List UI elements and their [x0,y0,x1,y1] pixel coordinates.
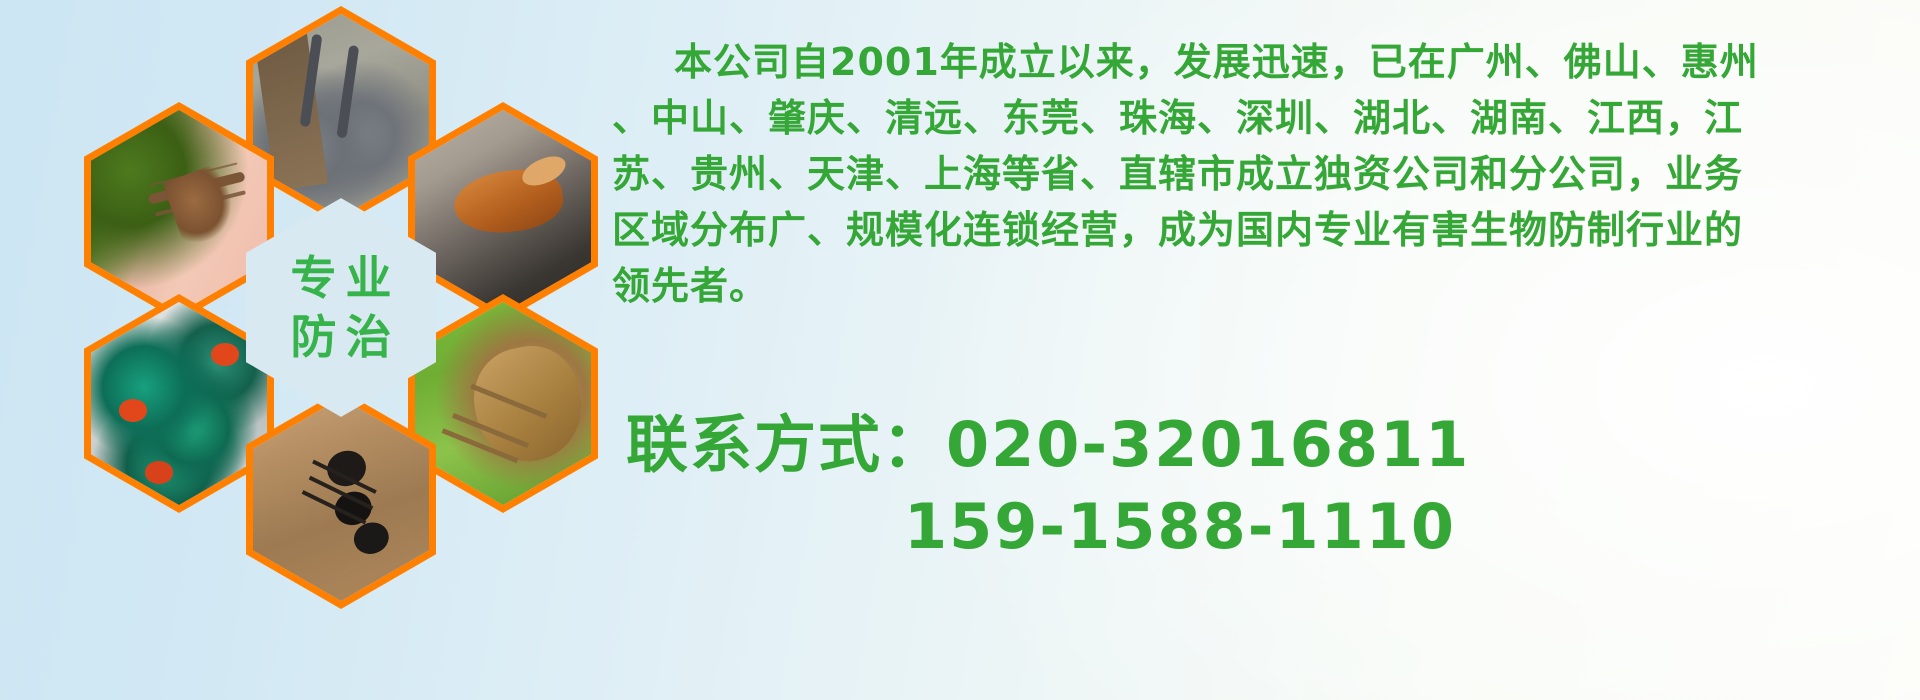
slogan-line-2: 防治 [282,310,401,364]
hex-cell-cockroach-photo [408,102,598,321]
hex-cell-stinkbug-photo [408,294,598,513]
hex-cell-slogan: 专业 防治 [246,198,436,417]
hex-inner [91,110,267,313]
hex-cell-mosquito-photo [84,102,274,321]
hex-inner [415,110,591,313]
description-line-5: 领先者。 [612,258,1908,314]
contact-block: 联系方式：020-32016811 159-1588-1110 [626,404,1920,568]
description-line-1: 本公司自2001年成立以来，发展迅速，已在广州、佛山、惠州 [612,34,1908,90]
contact-label: 联系方式： [626,408,946,481]
flies-photo [91,302,267,505]
stinkbug-photo [415,302,591,505]
cockroach-photo [415,110,591,313]
hex-cell-rats-photo [246,6,436,225]
contact-mobile-row: 159-1588-1110 [626,486,1920,568]
rats-photo [253,14,429,217]
hex-inner [415,302,591,505]
contact-phone-landline[interactable]: 020-32016811 [946,408,1470,481]
description-line-3: 苏、贵州、天津、上海等省、直辖市成立独资公司和分公司，业务 [612,146,1908,202]
hex-cell-ant-photo [246,390,436,609]
hex-inner [253,398,429,601]
ant-photo [253,398,429,601]
description-line-2: 、中山、肇庆、清远、东莞、珠海、深圳、湖北、湖南、江西，江 [612,90,1908,146]
mosquito-photo [91,110,267,313]
hexagon-photo-collage: 专业 防治 [78,6,578,566]
hex-cell-flies-photo [84,294,274,513]
company-description: 本公司自2001年成立以来，发展迅速，已在广州、佛山、惠州 、中山、肇庆、清远、… [612,34,1908,314]
promo-banner: 专业 防治 本公司自2001年成立以来，发展迅速，已在广州、佛山、惠州 、中山、… [0,0,1920,700]
hex-inner: 专业 防治 [246,198,436,417]
contact-phone-mobile[interactable]: 159-1588-1110 [904,490,1456,563]
hex-inner [91,302,267,505]
slogan-line-1: 专业 [282,251,401,305]
description-line-4: 区域分布广、规模化连锁经营，成为国内专业有害生物防制行业的 [612,202,1908,258]
contact-landline-row: 联系方式：020-32016811 [626,404,1920,486]
hex-inner [253,14,429,217]
